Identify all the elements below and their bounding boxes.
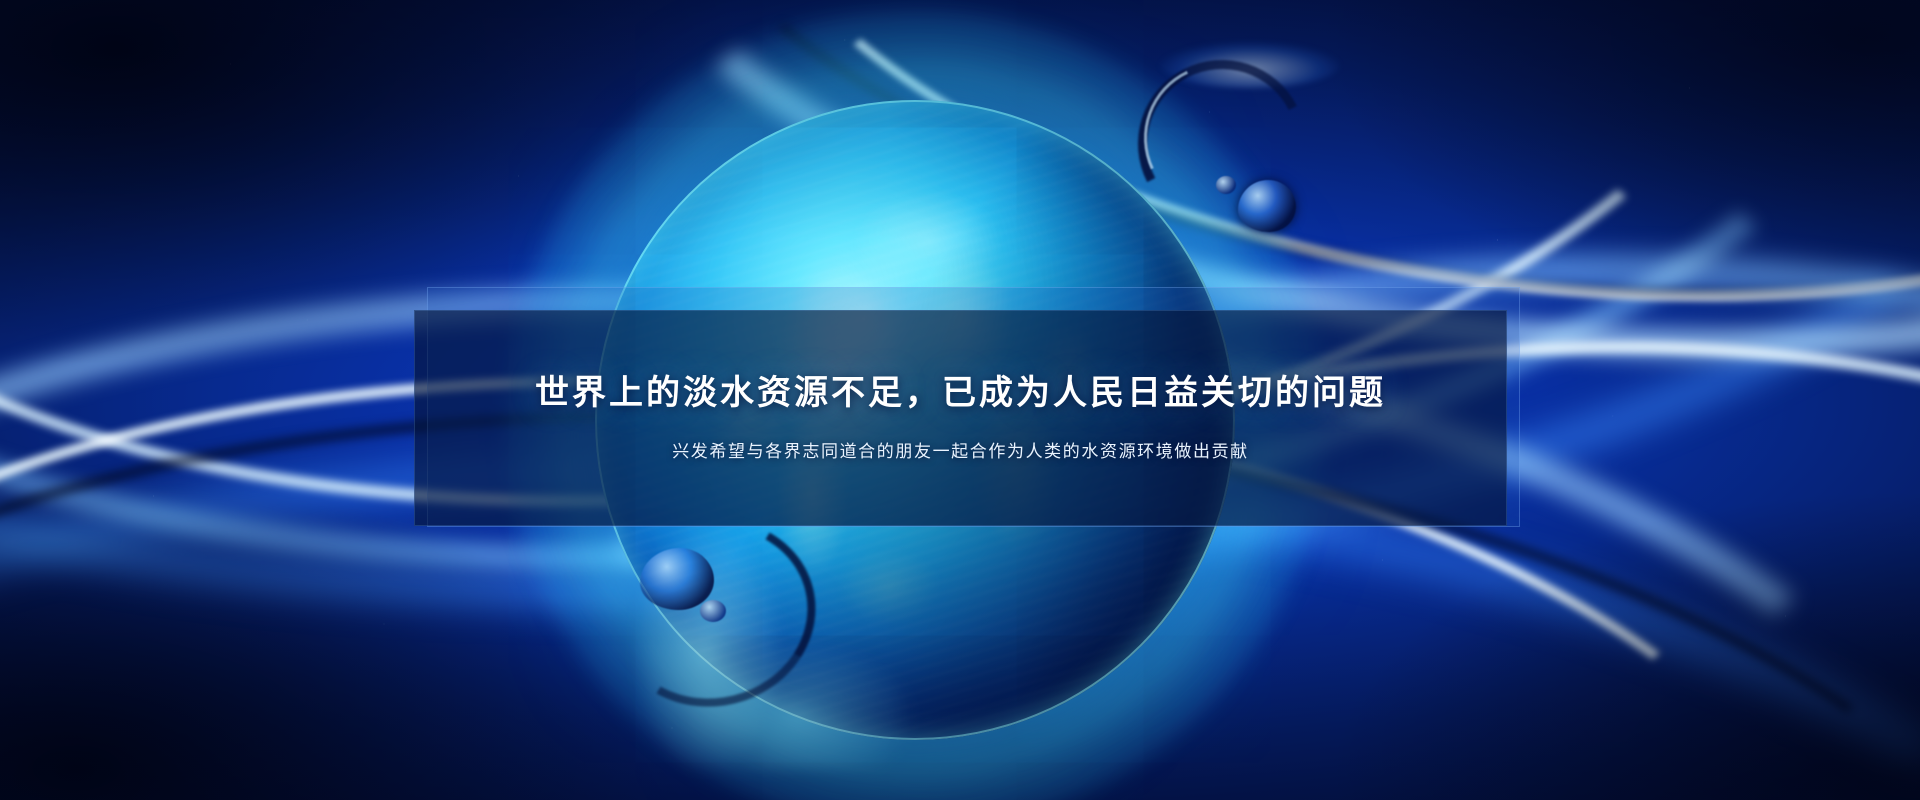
text-overlay-frame: 世界上的淡水资源不足，已成为人民日益关切的问题 兴发希望与各界志同道合的朋友一起… <box>427 287 1520 527</box>
hero-banner: 世界上的淡水资源不足，已成为人民日益关切的问题 兴发希望与各界志同道合的朋友一起… <box>0 0 1920 800</box>
banner-copy: 世界上的淡水资源不足，已成为人民日益关切的问题 兴发希望与各界志同道合的朋友一起… <box>415 311 1506 525</box>
text-overlay-panel: 世界上的淡水资源不足，已成为人民日益关切的问题 兴发希望与各界志同道合的朋友一起… <box>414 310 1507 526</box>
banner-headline: 世界上的淡水资源不足，已成为人民日益关切的问题 <box>535 372 1386 415</box>
banner-subheadline: 兴发希望与各界志同道合的朋友一起合作为人类的水资源环境做出贡献 <box>672 440 1249 464</box>
water-droplet-small-icon <box>700 600 726 622</box>
water-droplet-large-icon <box>640 548 714 610</box>
